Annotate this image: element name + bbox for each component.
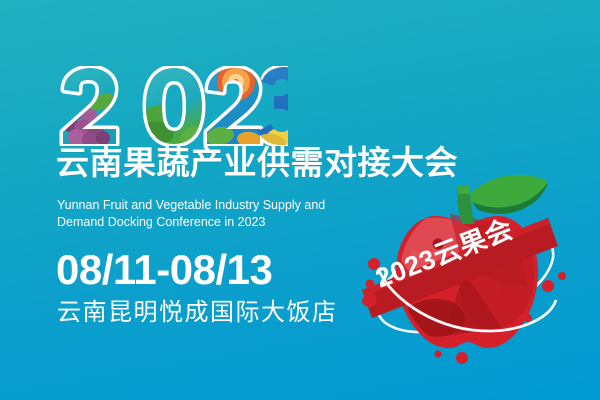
conference-poster: 云南果蔬产业供需对接大会 Yunnan Fruit and Vegetable … [0,0,600,400]
year-2023-logo [58,66,288,146]
grape-cluster-fruit [62,90,117,146]
subtitle-line-1: Yunnan Fruit and Vegetable Industry Supp… [57,197,325,214]
apple-emblem: 2023云果会 [352,168,582,368]
apple-leaf [470,175,548,214]
event-venue: 云南昆明悦成国际大饭店 [57,301,338,325]
apple-stem-highlight [458,186,470,194]
subtitle: Yunnan Fruit and Vegetable Industry Supp… [57,197,325,231]
subtitle-line-2: Demand Docking Conference in 2023 [57,214,325,231]
event-date: 08/11-08/13 [56,249,272,291]
